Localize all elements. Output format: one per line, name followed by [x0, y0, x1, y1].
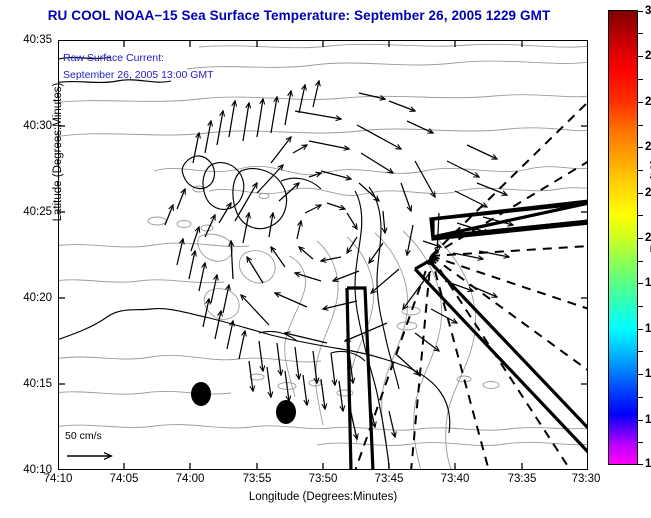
ytick-5: 40:35 [23, 34, 52, 46]
xtick-8: 73:30 [572, 473, 601, 485]
colorbar-tick-18: 18 [645, 277, 651, 289]
annotation-line-2: September 26, 2005 13:00 GMT [63, 69, 214, 81]
xtick-3: 73:55 [243, 473, 272, 485]
station-marker-1[interactable] [191, 382, 211, 406]
ytick-3: 40:25 [23, 206, 52, 218]
scalebar-label: 50 cm/s [65, 430, 102, 442]
ytick-2: 40:20 [23, 292, 52, 304]
ytick-1: 40:15 [23, 378, 52, 390]
xtick-2: 74:00 [176, 473, 205, 485]
surface-current-vectors [165, 81, 513, 439]
colorbar-tick-28: 28 [645, 50, 651, 62]
colorbar-tick-16: 16 [645, 323, 651, 335]
ytick-4: 40:30 [23, 120, 52, 132]
ytick-0: 40:10 [23, 464, 52, 476]
xtick-5: 73:45 [375, 473, 404, 485]
colorbar [608, 10, 638, 465]
xtick-4: 73:50 [309, 473, 338, 485]
station-marker-2[interactable] [276, 400, 296, 424]
colorbar-tick-26: 26 [645, 96, 651, 108]
x-axis-label: Longitude (Degrees:Minutes) [58, 491, 588, 503]
colorbar-tick-12: 12 [645, 414, 651, 426]
plot-area: Raw Surface Current: September 26, 2005 … [58, 40, 588, 470]
annotation-line-1: Raw Surface Current: [63, 52, 164, 64]
colorbar-tick-14: 14 [645, 368, 651, 380]
colorbar-tick-30: 30 [645, 5, 651, 17]
plot-inner: Raw Surface Current: September 26, 2005 … [59, 41, 587, 469]
map-canvas [59, 41, 588, 470]
y-axis-label: Latitude (Degrees:Minutes) [52, 42, 64, 262]
coastline [59, 57, 450, 470]
xtick-6: 73:40 [441, 473, 470, 485]
sst-map-figure: RU COOL NOAA−15 Sea Surface Temperature:… [0, 0, 651, 518]
colorbar-tick-10: 10 [645, 458, 651, 470]
xtick-1: 74:05 [110, 473, 139, 485]
figure-title: RU COOL NOAA−15 Sea Surface Temperature:… [0, 8, 598, 23]
xtick-7: 73:35 [508, 473, 537, 485]
